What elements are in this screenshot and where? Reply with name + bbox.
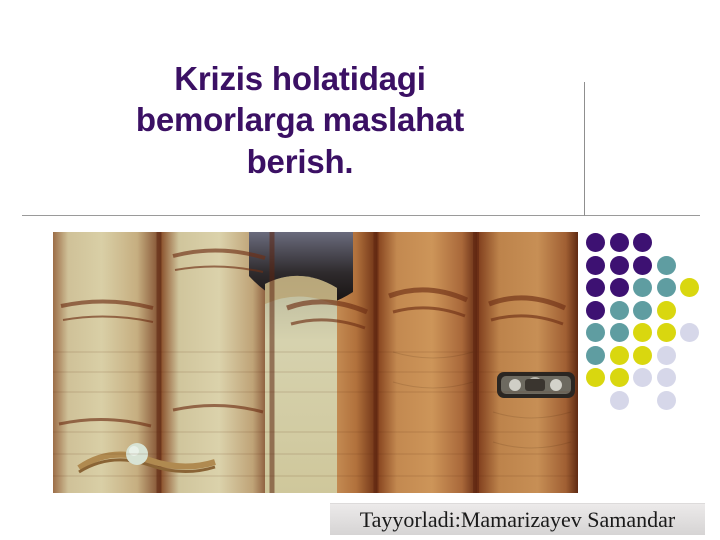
title-line-3: berish. <box>40 141 560 182</box>
decorative-dot-grid <box>586 233 698 411</box>
dot-purple <box>586 256 605 275</box>
title-line-1: Krizis holatidagi <box>40 58 560 99</box>
vertical-divider-line <box>584 82 585 216</box>
dot-teal <box>610 301 629 320</box>
author-caption-text: Tayyorladi:Mamarizayev Samandar <box>360 507 676 533</box>
dot-teal <box>657 256 676 275</box>
dot-teal <box>610 323 629 342</box>
photograph-canvas <box>53 232 578 493</box>
dot-yellow <box>680 278 699 297</box>
dot-purple <box>610 233 629 252</box>
slide-title: Krizis holatidagi bemorlarga maslahat be… <box>40 58 560 182</box>
dot-yellow <box>657 323 676 342</box>
dot-yellow <box>633 323 652 342</box>
horizontal-divider-line <box>22 215 700 216</box>
dot-yellow <box>610 346 629 365</box>
dot-purple <box>586 301 605 320</box>
dot-purple <box>586 278 605 297</box>
ring-right <box>497 372 575 398</box>
dot-teal <box>657 278 676 297</box>
photograph-graphic <box>53 232 578 493</box>
dot-lavender <box>657 391 676 410</box>
dot-lavender <box>610 391 629 410</box>
dot-teal <box>633 301 652 320</box>
dot-lavender <box>633 368 652 387</box>
dot-purple <box>633 256 652 275</box>
dot-teal <box>633 278 652 297</box>
dot-purple <box>610 256 629 275</box>
dot-lavender <box>680 323 699 342</box>
title-line-2: bemorlarga maslahat <box>40 99 560 140</box>
presentation-slide: Krizis holatidagi bemorlarga maslahat be… <box>0 0 720 540</box>
hands-photograph <box>53 232 578 493</box>
author-caption-box: Tayyorladi:Mamarizayev Samandar <box>330 503 705 535</box>
dot-teal <box>586 323 605 342</box>
dot-purple <box>633 233 652 252</box>
dot-yellow <box>610 368 629 387</box>
dot-lavender <box>657 346 676 365</box>
dot-yellow <box>657 301 676 320</box>
dot-lavender <box>657 368 676 387</box>
dot-purple <box>610 278 629 297</box>
dot-yellow <box>633 346 652 365</box>
dot-teal <box>586 346 605 365</box>
dot-yellow <box>586 368 605 387</box>
dot-purple <box>586 233 605 252</box>
